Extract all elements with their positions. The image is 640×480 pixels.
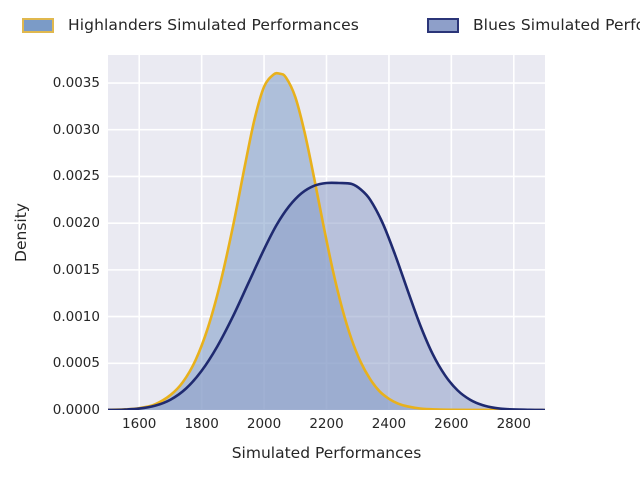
x-tick-label: 2800 xyxy=(474,416,554,432)
x-axis-tick-labels: 1600180020002200240026002800 xyxy=(0,0,640,480)
x-axis-label: Simulated Performances xyxy=(108,444,545,462)
kde-density-figure: Highlanders Simulated Performances Blues… xyxy=(0,0,640,480)
